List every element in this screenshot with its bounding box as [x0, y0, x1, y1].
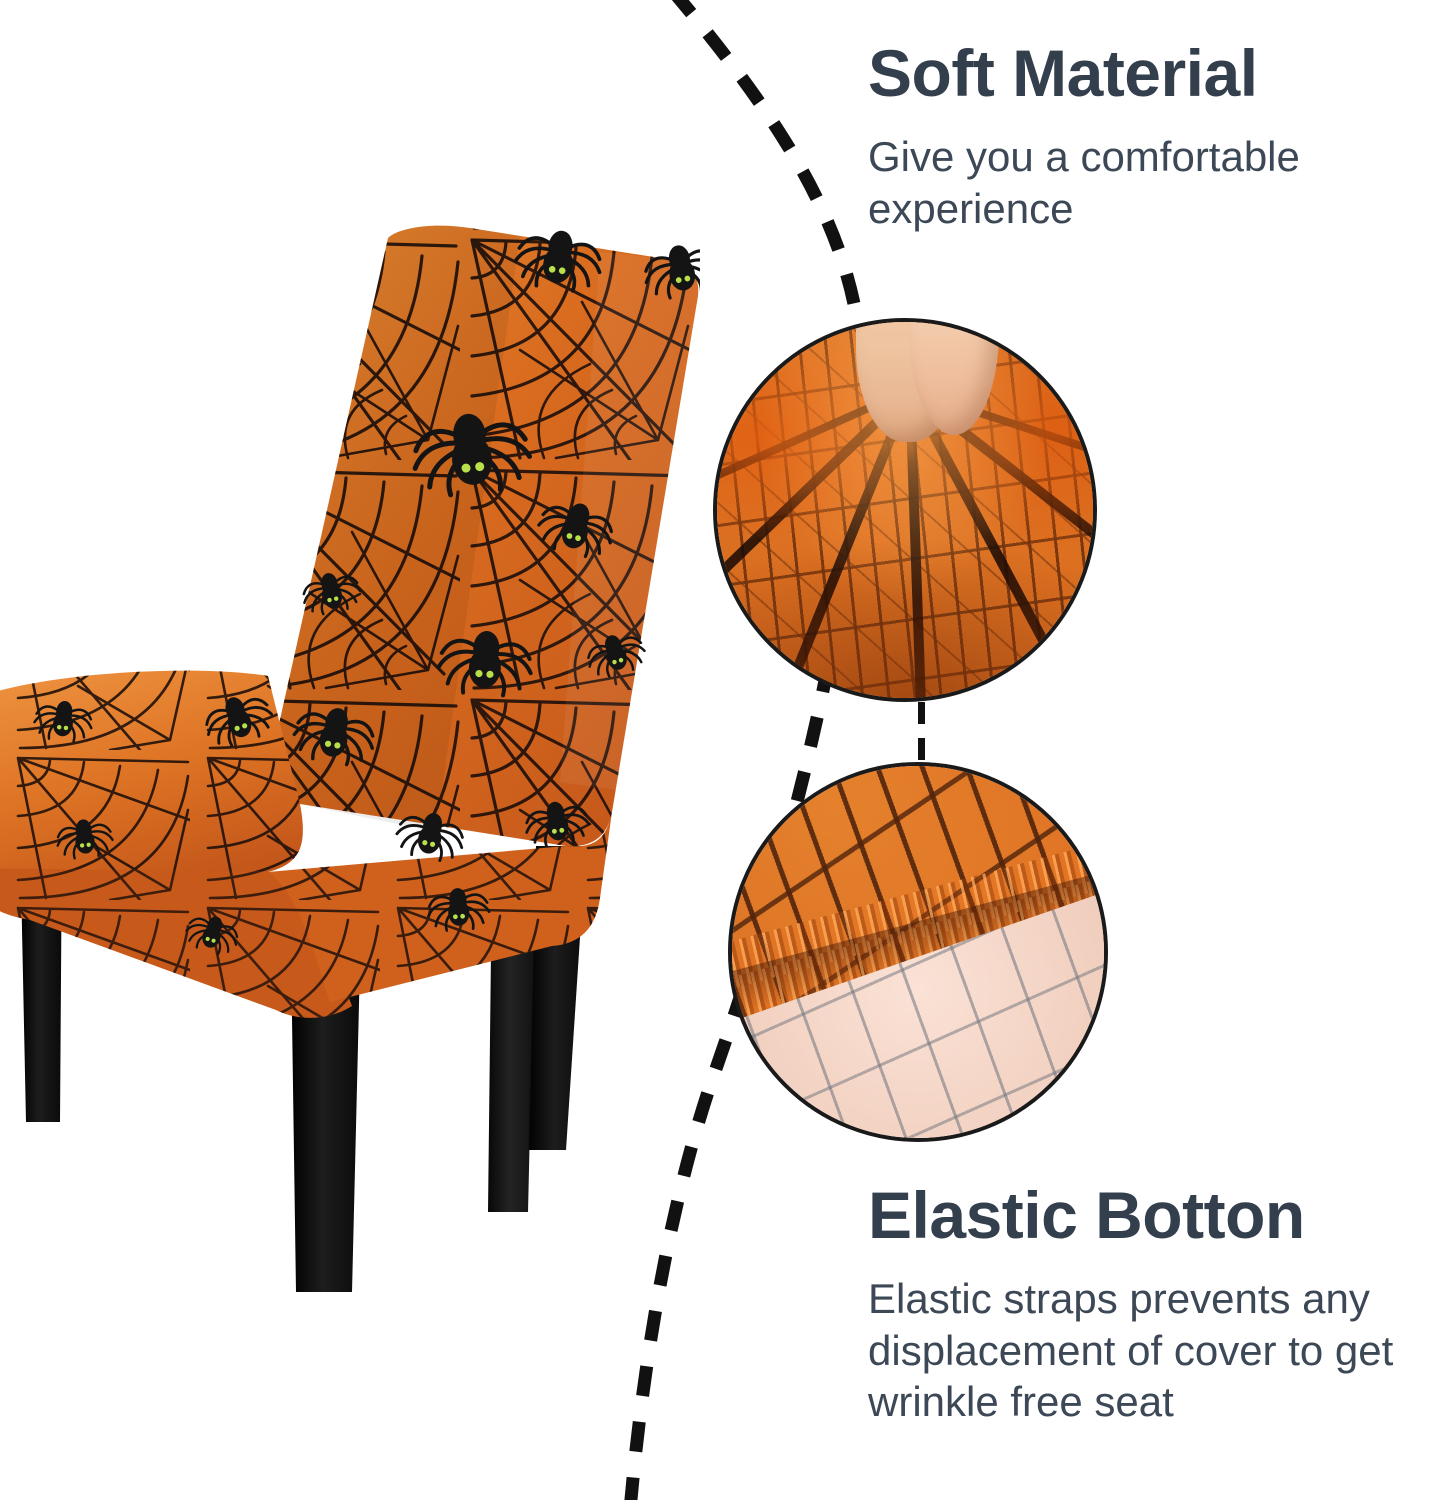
- feature-title-elastic-bottom: Elastic Botton: [868, 1180, 1447, 1251]
- callout-connector-dashes: [918, 702, 925, 760]
- product-chair-illustration: [0, 0, 700, 1320]
- feature-title-soft-material: Soft Material: [868, 38, 1447, 109]
- feature-body-soft-material: Give you a comfortable experience: [868, 131, 1447, 233]
- feature-body-elastic-bottom: Elastic straps prevents any displacement…: [868, 1273, 1447, 1427]
- feature-elastic-bottom: Elastic Botton Elastic straps prevents a…: [868, 1180, 1447, 1427]
- pinched-fabric-icon: [717, 322, 1093, 698]
- elastic-detail-circle: [728, 762, 1108, 1142]
- feature-soft-material: Soft Material Give you a comfortable exp…: [868, 38, 1447, 234]
- stretch-detail-circle: [713, 318, 1097, 702]
- infographic-page: Soft Material Give you a comfortable exp…: [0, 0, 1447, 1500]
